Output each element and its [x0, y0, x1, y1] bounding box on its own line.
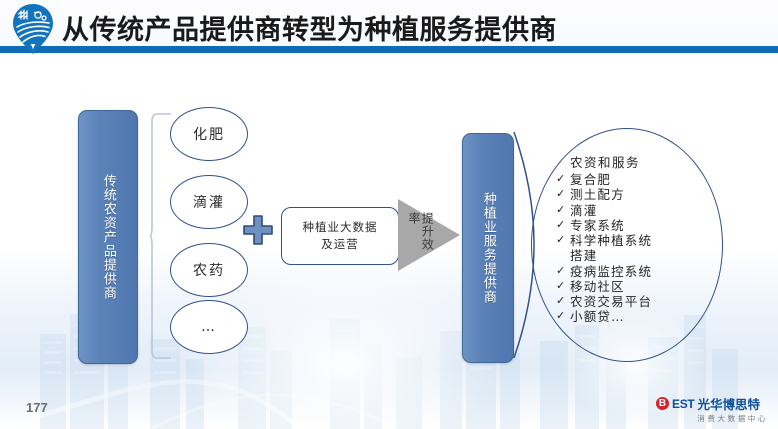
service-item-label: 疫病监控系统 — [570, 264, 652, 279]
service-item-label: 小额贷… — [570, 309, 625, 324]
product-ellipse-0[interactable]: 化肥 — [170, 107, 248, 161]
service-item-label: 测土配方 — [570, 187, 625, 202]
check-icon: ✓ — [556, 279, 570, 293]
product-label: … — [201, 319, 217, 335]
service-item[interactable]: ✓ 专家系统 — [556, 218, 706, 233]
product-ellipse-2[interactable]: 农药 — [170, 243, 248, 297]
service-item-label: 移动社区 — [570, 279, 625, 294]
service-item[interactable]: ✓ 测土配方 — [556, 187, 706, 202]
efficiency-arrow-label: 提升效率 — [402, 212, 438, 258]
product-label: 化肥 — [193, 124, 225, 144]
logo-est-text: EST — [672, 397, 694, 411]
company-logo: B EST 光华博思特 消费大数据中心 — [656, 396, 768, 424]
plus-icon — [243, 215, 273, 245]
middle-box-line1: 种植业大数据 — [303, 219, 378, 236]
middle-box-line2: 及运营 — [303, 236, 378, 253]
header-rule — [0, 46, 778, 53]
agriculture-pin-icon — [11, 3, 55, 55]
page-title: 从传统产品提供商转型为种植服务提供商 — [62, 8, 557, 47]
service-item-label: 复合肥 — [570, 172, 611, 187]
service-item-label: 专家系统 — [570, 218, 625, 233]
service-item[interactable]: ✓ 疫病监控系统 — [556, 264, 706, 279]
service-item[interactable]: ✓ 滴灌 — [556, 203, 706, 218]
product-ellipse-1[interactable]: 滴灌 — [170, 175, 248, 229]
service-item[interactable]: ✓ 小额贷… — [556, 309, 706, 324]
left-provider-label: 传统农资产品提供商 — [79, 111, 137, 363]
check-icon: ✓ — [556, 187, 570, 201]
service-item-label: 农资交易平台 — [570, 294, 652, 309]
service-item-label: 搭建 — [570, 248, 597, 263]
check-icon: ✓ — [556, 218, 570, 232]
check-icon: ✓ — [556, 264, 570, 278]
product-ellipse-3[interactable]: … — [170, 300, 248, 354]
check-icon: ✓ — [556, 203, 570, 217]
services-list-title: 农资和服务 — [570, 152, 706, 171]
slide-canvas: 从传统产品提供商转型为种植服务提供商 传统农资产品提供商 化肥 滴灌 农药 … … — [0, 0, 778, 429]
service-item-continuation: ✓ 搭建 — [556, 248, 706, 263]
check-icon: ✓ — [556, 172, 570, 186]
product-label: 滴灌 — [193, 192, 225, 212]
middle-bigdata-box[interactable]: 种植业大数据 及运营 — [281, 207, 399, 265]
left-provider-box[interactable]: 传统农资产品提供商 — [78, 110, 138, 364]
logo-chinese-name: 光华博思特 — [697, 394, 760, 413]
service-item-label: 科学种植系统 — [570, 233, 652, 248]
check-icon: ✓ — [556, 294, 570, 308]
logo-subtitle: 消费大数据中心 — [656, 413, 768, 424]
service-item[interactable]: ✓ 农资交易平台 — [556, 294, 706, 309]
product-label: 农药 — [193, 260, 225, 280]
service-item[interactable]: ✓ 移动社区 — [556, 279, 706, 294]
check-icon: ✓ — [556, 233, 570, 247]
service-item[interactable]: ✓ 科学种植系统 — [556, 233, 706, 248]
check-icon: ✓ — [556, 309, 570, 323]
logo-mark-icon: B — [656, 397, 669, 410]
service-item[interactable]: ✓ 复合肥 — [556, 172, 706, 187]
services-list: 农资和服务 ✓ 复合肥 ✓ 测土配方 ✓ 滴灌 ✓ 专家系统 ✓ 科学种植系统 … — [556, 152, 706, 325]
service-item-label: 滴灌 — [570, 203, 597, 218]
left-bracket-connector — [150, 112, 172, 360]
page-number: 177 — [26, 400, 48, 415]
